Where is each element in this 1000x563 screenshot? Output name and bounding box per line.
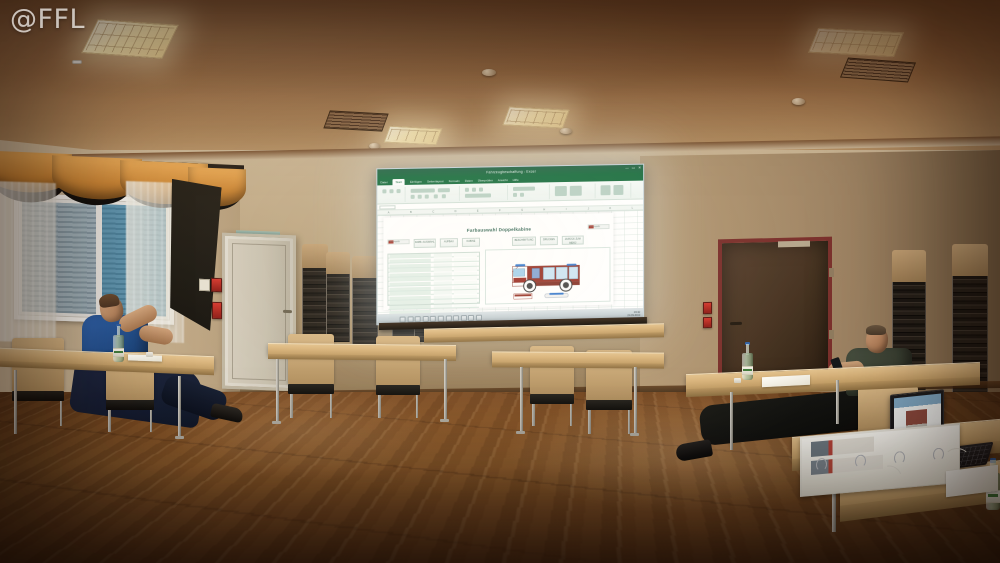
column-header[interactable]: B: [400, 210, 422, 214]
chair-seat-stack: [302, 268, 328, 340]
fire-alarm-icon[interactable]: [703, 317, 712, 328]
row-value[interactable]: [434, 254, 452, 258]
form-button-beschriftung[interactable]: BESCHRIFTUNG: [512, 236, 536, 245]
chair-backrest: [302, 244, 328, 270]
align-center-icon[interactable]: [472, 188, 476, 192]
tab-ansicht[interactable]: Ansicht: [498, 178, 508, 182]
minimize-icon[interactable]: —: [625, 166, 629, 170]
window-controls[interactable]: — ▭ ✕: [625, 166, 641, 170]
binder-ring: [933, 447, 944, 461]
chair-seat: [288, 384, 334, 394]
cable: [944, 448, 970, 470]
chair-leg: [628, 410, 631, 434]
column-header[interactable]: I: [555, 207, 577, 211]
column-header[interactable]: H: [533, 207, 555, 211]
door-hinge: [829, 330, 834, 339]
chair-backrest: [952, 244, 988, 278]
italic-icon[interactable]: [418, 195, 422, 199]
name-box[interactable]: [379, 205, 395, 209]
binder-ring: [894, 451, 905, 465]
taskbar-icon[interactable]: [438, 315, 444, 321]
delete-cell-icon[interactable]: [613, 185, 623, 195]
chair-leg: [570, 404, 573, 426]
room-photo-scene: Fahrzeugbeschaffung - Excel — ▭ ✕ Datei …: [0, 0, 1000, 563]
fill-color-icon[interactable]: [434, 194, 438, 198]
smoke-detector-icon: [482, 69, 496, 76]
form-button-kabine[interactable]: KABINE: [462, 238, 480, 247]
ceiling-light-panel: [383, 126, 442, 146]
table-style-icon[interactable]: [570, 186, 582, 196]
smoke-detector-icon: [792, 98, 805, 105]
font-color-icon[interactable]: [442, 194, 446, 198]
window-handle[interactable]: [72, 60, 82, 64]
table-leg: [520, 367, 523, 433]
close-icon[interactable]: ✕: [638, 166, 641, 170]
stacked-chairs: [326, 252, 350, 342]
row-value[interactable]: [434, 281, 452, 285]
tab-ueberpruefen[interactable]: Überprüfen: [478, 178, 493, 182]
table-foot: [272, 421, 281, 424]
row-value[interactable]: [434, 286, 452, 290]
table-leg: [178, 376, 181, 438]
door-hinge: [829, 268, 834, 277]
cut-icon[interactable]: [389, 189, 393, 193]
door-handle[interactable]: [730, 322, 742, 325]
taskbar-icon[interactable]: [430, 315, 436, 321]
taskbar-icon[interactable]: [400, 316, 406, 322]
tab-seitenlayout[interactable]: Seitenlayout: [427, 179, 444, 183]
color-selection-form[interactable]: Feuerwehr Farbauswahl Doppelkabine Feuer…: [383, 213, 613, 310]
column-header[interactable]: L: [621, 205, 643, 209]
bold-icon[interactable]: [411, 195, 415, 199]
table-foot: [175, 436, 184, 439]
chair-seat-stack: [352, 278, 378, 344]
align-right-icon[interactable]: [479, 188, 483, 192]
color-option-table[interactable]: [387, 252, 480, 306]
binder-pages: [802, 425, 959, 496]
chair-backrest: [352, 256, 378, 280]
paper-sheet[interactable]: [128, 354, 162, 361]
font-size-box[interactable]: [438, 188, 450, 192]
water-bottle[interactable]: [113, 326, 124, 362]
chair-seat: [106, 400, 154, 410]
chair-leg: [60, 401, 63, 426]
row-value[interactable]: [434, 258, 452, 262]
column-header[interactable]: A: [377, 210, 399, 214]
table-leg: [14, 370, 17, 434]
cup[interactable]: [146, 352, 153, 357]
tab-hilfe[interactable]: Hilfe: [513, 177, 519, 181]
ribbon-group-cells[interactable]: [598, 183, 632, 199]
column-header[interactable]: D: [444, 209, 466, 213]
taskbar-icon[interactable]: [423, 315, 429, 321]
tab-daten[interactable]: Daten: [465, 178, 473, 182]
chair-leg: [378, 395, 381, 418]
cup[interactable]: [734, 378, 741, 383]
maximize-icon[interactable]: ▭: [632, 166, 635, 170]
bottle-label: [113, 348, 124, 357]
tab-datei[interactable]: Datei: [380, 180, 387, 184]
underline-icon[interactable]: [425, 195, 429, 199]
taskbar-icon[interactable]: [476, 314, 482, 320]
chair-seat: [530, 394, 574, 404]
row-value[interactable]: [434, 272, 452, 276]
chair-backrest: [892, 250, 926, 284]
currency-icon[interactable]: [513, 193, 517, 197]
excel-title: Fahrzeugbeschaffung - Excel: [486, 169, 535, 174]
ceiling-air-vent: [323, 110, 388, 131]
font-name-box[interactable]: [411, 188, 435, 192]
taskbar-icon[interactable]: [461, 315, 467, 321]
chair-leg: [330, 394, 333, 418]
chair-seat: [586, 400, 632, 410]
table-leg: [444, 359, 447, 421]
smoke-detector-icon: [560, 128, 572, 134]
excel-window: Fahrzeugbeschaffung - Excel — ▭ ✕ Datei …: [377, 165, 643, 325]
right-door[interactable]: [718, 237, 832, 388]
row-value[interactable]: [434, 291, 452, 295]
insert-cell-icon[interactable]: [601, 185, 611, 195]
column-header[interactable]: C: [422, 209, 444, 213]
tab-formeln[interactable]: Formeln: [449, 178, 460, 182]
tab-start[interactable]: Start: [393, 178, 405, 184]
table-leg: [634, 367, 637, 435]
binder-ring: [816, 458, 827, 472]
ceiling-light-panel: [808, 28, 904, 58]
form-button-drucken[interactable]: DRUCKEN: [540, 236, 558, 245]
taskbar-icon[interactable]: [453, 315, 459, 321]
chair-seat: [376, 385, 420, 395]
percent-icon[interactable]: [520, 193, 524, 197]
taskbar-icon[interactable]: [468, 314, 474, 320]
row-value[interactable]: [434, 304, 452, 308]
chair-backrest: [326, 252, 350, 276]
fire-alarm-icon[interactable]: [212, 302, 222, 319]
sheer-curtain: [0, 181, 56, 343]
projection-screen: Fahrzeugbeschaffung - Excel — ▭ ✕ Datei …: [376, 164, 644, 326]
taskbar-icon[interactable]: [445, 315, 451, 321]
ceiling-light-panel: [81, 19, 179, 59]
fire-alarm-icon[interactable]: [211, 278, 222, 292]
row-value[interactable]: [434, 300, 452, 304]
chair-leg: [290, 394, 293, 418]
taskbar-icon[interactable]: [407, 316, 413, 322]
form-button-farbauswahl[interactable]: FARB- AUSWAHL: [414, 239, 436, 248]
column-header[interactable]: G: [511, 208, 533, 212]
form-title: Farbauswahl Doppelkabine: [383, 225, 613, 235]
right-man-hair: [866, 325, 886, 335]
number-format-box[interactable]: [513, 187, 535, 191]
row-value[interactable]: [434, 263, 452, 267]
row-value[interactable]: [434, 277, 452, 281]
tab-einfuegen[interactable]: Einfügen: [410, 179, 422, 183]
water-bottle[interactable]: [742, 344, 753, 380]
copy-icon[interactable]: [397, 189, 401, 193]
light-switch[interactable]: [199, 279, 210, 291]
chair-leg: [532, 404, 535, 426]
fire-brigade-logo-icon: Feuerwehr: [387, 239, 409, 244]
form-button-aufbau[interactable]: AUFBAU: [440, 238, 458, 247]
chair-leg: [416, 395, 419, 418]
bottle-label: [742, 366, 753, 375]
column-header[interactable]: E: [467, 208, 489, 212]
table-leg: [276, 359, 279, 423]
column-header[interactable]: J: [577, 206, 599, 210]
stacked-chairs: [302, 244, 328, 340]
fire-alarm-icon[interactable]: [703, 302, 712, 314]
chair-leg: [588, 410, 591, 434]
table-leg: [730, 392, 733, 450]
column-header[interactable]: F: [489, 208, 511, 212]
watermark: @FFL: [10, 4, 85, 35]
table-foot: [440, 419, 449, 422]
table-foot: [516, 431, 525, 434]
chair-leg: [108, 410, 111, 432]
ribbon-group-alignment[interactable]: [462, 185, 508, 201]
ribbon-group-styles[interactable]: [552, 183, 596, 199]
ribbon-group-clipboard[interactable]: [379, 187, 405, 203]
table-foot: [630, 433, 639, 436]
chair-leg: [150, 410, 153, 432]
column-header[interactable]: K: [599, 206, 621, 210]
fire-truck-drawing: [485, 247, 610, 305]
door-closer: [778, 241, 810, 248]
ceiling-light-panel: [502, 106, 570, 128]
taskbar-icon[interactable]: [415, 316, 421, 322]
row-value[interactable]: [434, 295, 452, 299]
chair-seat-stack: [326, 274, 350, 342]
fire-truck-svg: [486, 248, 609, 304]
align-left-icon[interactable]: [465, 188, 469, 192]
chair-seat: [12, 391, 64, 402]
stacked-chairs: [352, 256, 378, 344]
conditional-format-icon[interactable]: [555, 186, 567, 196]
door-handle[interactable]: [283, 310, 292, 313]
table-leg: [836, 380, 839, 424]
binder-ring: [855, 454, 866, 468]
ribbon-group-number[interactable]: [510, 184, 550, 200]
merge-cells-icon[interactable]: [465, 193, 491, 197]
ribbon-group-font[interactable]: [408, 186, 460, 202]
row-value[interactable]: [434, 267, 452, 271]
form-button-zurueck[interactable]: ZURÜCK ZUM MENÜ: [562, 235, 584, 244]
paste-icon[interactable]: [382, 189, 386, 193]
